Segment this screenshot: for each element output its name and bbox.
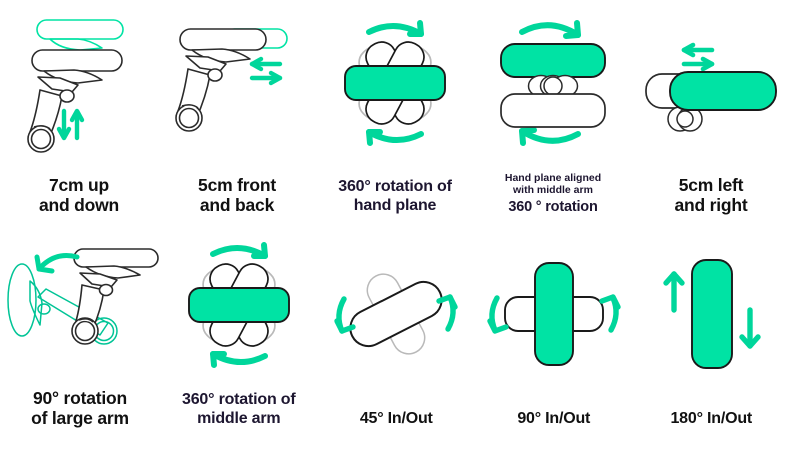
panel-label: 5cm front and back — [198, 169, 276, 216]
panel-sublabel: Hand plane aligned with middle arm — [505, 172, 601, 197]
armrest-adjustment-diagram: 7cm up and down — [0, 0, 790, 451]
panel-middle-arm-rotation[interactable]: 360° rotation of middle arm — [160, 224, 318, 443]
panel-label: 5cm left and right — [674, 169, 747, 216]
panel-in-out-90[interactable]: 90° In/Out — [475, 224, 633, 443]
hand-plane-rotation-icon — [316, 0, 474, 172]
in-out-45-icon — [318, 224, 476, 404]
in-out-90-icon — [475, 224, 633, 404]
panel-label: 180° In/Out — [670, 404, 752, 429]
panel-label: 7cm up and down — [39, 169, 119, 216]
armrest-lateral-adjust-icon — [632, 0, 790, 169]
panel-label: 360° rotation of hand plane — [338, 172, 451, 216]
panel-up-down[interactable]: 7cm up and down — [0, 0, 158, 230]
diagram-row-top: 7cm up and down — [0, 8, 790, 230]
panel-front-back[interactable]: 5cm front and back — [158, 0, 316, 230]
large-arm-rotation-icon — [0, 224, 160, 382]
armrest-vertical-adjust-icon — [0, 0, 158, 169]
panel-label: 45° In/Out — [360, 404, 433, 429]
panel-hand-plane-rotation[interactable]: 360° rotation of hand plane — [316, 0, 474, 230]
panel-in-out-45[interactable]: 45° In/Out — [318, 224, 476, 443]
panel-label: 360° rotation of middle arm — [182, 385, 295, 429]
armrest-depth-adjust-icon — [158, 0, 316, 169]
diagram-row-bottom: 90° rotation of large arm — [0, 238, 790, 443]
panel-label: 90° rotation of large arm — [31, 382, 129, 429]
panel-label: 360 ° rotation — [508, 197, 597, 216]
panel-in-out-180[interactable]: 180° In/Out — [633, 224, 790, 443]
aligned-hand-plane-rotation-icon — [474, 0, 632, 172]
middle-arm-rotation-icon — [160, 224, 318, 385]
in-out-180-icon — [633, 224, 790, 404]
panel-hand-plane-aligned-rotation[interactable]: Hand plane aligned with middle arm 360 °… — [474, 0, 632, 230]
panel-label: 90° In/Out — [517, 404, 590, 429]
panel-large-arm-rotation[interactable]: 90° rotation of large arm — [0, 224, 160, 443]
panel-left-right[interactable]: 5cm left and right — [632, 0, 790, 230]
